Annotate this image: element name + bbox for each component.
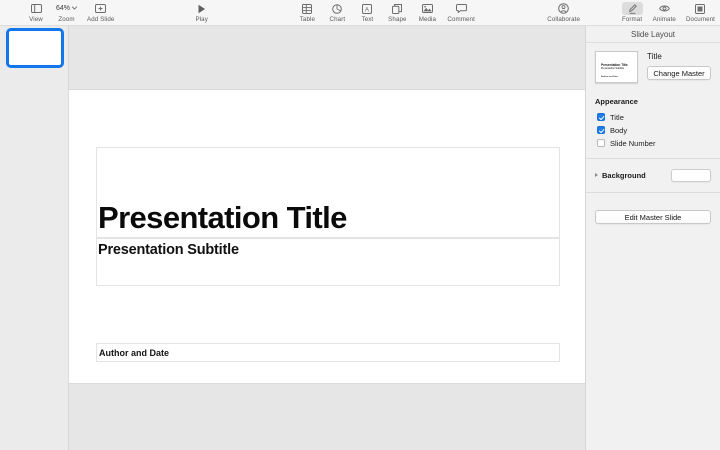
thumb-subtitle-text: Presentation Subtitle (601, 68, 624, 70)
main-toolbar: View 64% Zoom Add Slide (0, 0, 720, 26)
table-label: Table (300, 16, 315, 24)
pie-chart-icon (332, 2, 342, 15)
animate-icon (659, 2, 670, 15)
inspector-title: Slide Layout (631, 30, 675, 39)
chart-label: Chart (330, 16, 346, 24)
text-button[interactable]: A Text (352, 0, 382, 24)
appearance-option-body[interactable]: Body (595, 124, 711, 136)
appearance-option-slide-number[interactable]: Slide Number (595, 137, 711, 149)
format-inspector-panel: Slide Layout Presentation Title Presenta… (585, 26, 720, 450)
comment-label: Comment (447, 16, 475, 24)
text-label: Text (362, 16, 374, 24)
toolbar-left-group: View 64% Zoom Add Slide (21, 0, 119, 26)
slide-title-text: Presentation Title (98, 201, 347, 235)
background-color-well[interactable] (671, 169, 711, 182)
slide-layout-row: Presentation Title Presentation Subtitle… (595, 51, 711, 83)
inspector-body: Presentation Title Presentation Subtitle… (586, 43, 720, 224)
shape-label: Shape (388, 16, 406, 24)
view-button[interactable]: View (21, 0, 51, 24)
disclosure-triangle-icon[interactable] (595, 173, 598, 177)
play-triangle-icon (197, 2, 206, 15)
inspector-header: Slide Layout (586, 26, 720, 43)
zoom-value-group: 64% (56, 2, 77, 15)
toolbar-right-group: Format Animate Document (617, 0, 720, 26)
layout-info: Title Change Master (647, 51, 711, 80)
play-button[interactable]: Play (187, 0, 217, 24)
slide-navigator[interactable]: 1 (0, 26, 69, 450)
appearance-section-title: Appearance (595, 97, 711, 106)
media-button[interactable]: Media (412, 0, 442, 24)
slide-navigator-item-1[interactable]: 1 (6, 28, 64, 68)
add-slide-label: Add Slide (87, 16, 114, 24)
edit-master-slide-button[interactable]: Edit Master Slide (595, 210, 711, 224)
checkbox-slide-number-icon[interactable] (597, 139, 605, 147)
play-label: Play (195, 16, 207, 24)
appearance-option-title[interactable]: Title (595, 111, 711, 123)
add-slide-button[interactable]: Add Slide (82, 0, 119, 24)
collaborate-label: Collaborate (547, 16, 580, 24)
format-button[interactable]: Format (617, 0, 648, 24)
title-placeholder[interactable]: Presentation Title (96, 147, 560, 238)
add-slide-icon (95, 2, 106, 15)
slide-canvas-area[interactable]: Presentation Title Presentation Subtitle… (69, 26, 585, 450)
view-label: View (29, 16, 43, 24)
thumb-title-text: Presentation Title (601, 63, 628, 67)
checkbox-title-label: Title (610, 113, 624, 122)
collaborate-person-icon (558, 2, 569, 15)
shape-button[interactable]: Shape (382, 0, 412, 24)
shape-icon (392, 2, 402, 15)
inspector-divider-1 (586, 158, 720, 159)
table-button[interactable]: Table (292, 0, 322, 24)
checkbox-title-icon[interactable] (597, 113, 605, 121)
background-row[interactable]: Background (595, 167, 711, 183)
master-layout-thumbnail[interactable]: Presentation Title Presentation Subtitle… (595, 51, 638, 83)
slide-canvas[interactable]: Presentation Title Presentation Subtitle… (69, 90, 585, 383)
background-label: Background (602, 171, 646, 180)
checkbox-body-label: Body (610, 126, 627, 135)
keynote-window: View 64% Zoom Add Slide (0, 0, 720, 450)
document-button[interactable]: Document (681, 0, 720, 24)
format-brush-icon (622, 2, 643, 15)
slide-thumbnail[interactable] (6, 28, 64, 68)
zoom-value: 64% (56, 5, 70, 12)
sidebar-panel-icon (31, 2, 42, 15)
media-label: Media (419, 16, 436, 24)
media-image-icon (422, 2, 433, 15)
animate-label: Animate (653, 16, 676, 24)
comment-button[interactable]: Comment (442, 0, 480, 24)
toolbar-insert-group: Table Chart A Text Shape (292, 0, 480, 26)
comment-bubble-icon (456, 2, 467, 15)
zoom-control[interactable]: 64% Zoom (51, 0, 82, 24)
chevron-down-icon (72, 5, 77, 12)
svg-text:A: A (365, 6, 370, 13)
slide-subtitle-text: Presentation Subtitle (98, 241, 239, 259)
change-master-button[interactable]: Change Master (647, 66, 711, 80)
format-label: Format (622, 16, 642, 24)
document-icon (695, 2, 705, 15)
layout-name-label: Title (647, 52, 711, 61)
author-placeholder[interactable]: Author and Date (96, 343, 560, 362)
checkbox-slide-number-label: Slide Number (610, 139, 655, 148)
slide-number-label: 1 (9, 59, 12, 64)
animate-button[interactable]: Animate (648, 0, 681, 24)
table-grid-icon (302, 2, 312, 15)
thumb-author-text: Author and Date (601, 76, 618, 78)
document-label: Document (686, 16, 715, 24)
collaborate-button[interactable]: Collaborate (547, 0, 580, 24)
zoom-label: Zoom (58, 16, 74, 24)
slide-author-text: Author and Date (99, 347, 169, 359)
inspector-divider-2 (586, 192, 720, 193)
chart-button[interactable]: Chart (322, 0, 352, 24)
subtitle-placeholder[interactable]: Presentation Subtitle (96, 238, 560, 286)
checkbox-body-icon[interactable] (597, 126, 605, 134)
text-box-icon: A (362, 2, 372, 15)
